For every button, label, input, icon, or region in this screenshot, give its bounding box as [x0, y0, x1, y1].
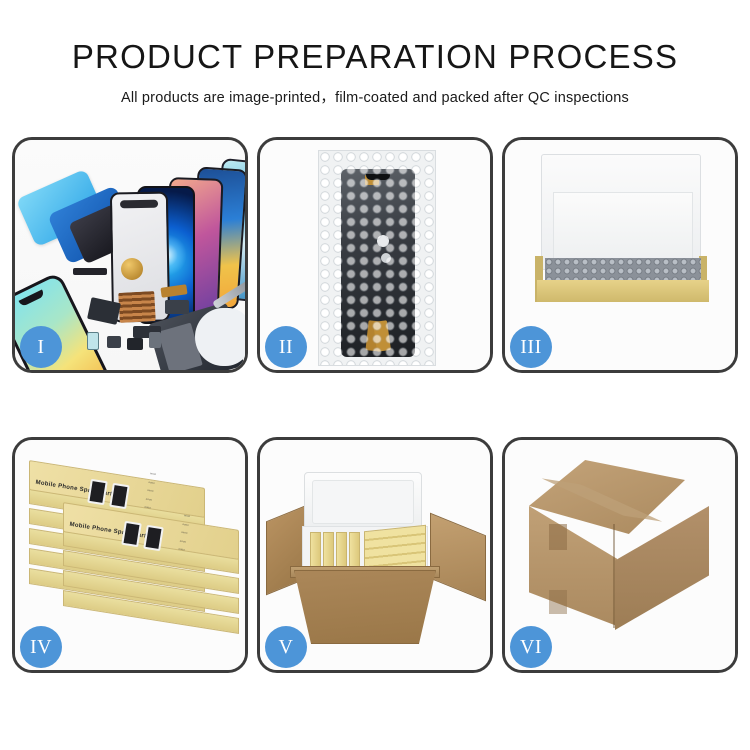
carton-tab-upper-icon: [549, 524, 567, 550]
foam-lid-inner-icon: [312, 480, 414, 524]
bubble-wrap-bag-icon: [318, 150, 436, 366]
process-step-4[interactable]: Mobile Phone Spare Parts ▫▫▫▫▫▫▫▫▫▫▫▫▫▫▫…: [12, 437, 248, 673]
foam-sheet-icon: [553, 192, 693, 262]
carton-flap-right-icon: [430, 513, 486, 602]
small-part-4-icon: [149, 332, 161, 348]
page-subtitle: All products are image-printed，film-coat…: [0, 86, 750, 107]
step-badge-5: V: [265, 626, 307, 668]
chip-array-icon: [118, 291, 156, 323]
process-step-3[interactable]: III: [502, 137, 738, 373]
process-step-5[interactable]: V: [257, 437, 493, 673]
step-badge-3: III: [510, 326, 552, 368]
speaker-module-icon: [121, 258, 143, 280]
carton-tab-lower-icon: [549, 590, 567, 614]
header: PRODUCT PREPARATION PROCESS All products…: [0, 0, 750, 107]
small-part-1-icon: [87, 332, 99, 350]
technician-hand-icon: [195, 308, 245, 366]
process-step-6[interactable]: VI: [502, 437, 738, 673]
carton-edge-seam-icon: [613, 524, 615, 628]
step-badge-1: I: [20, 326, 62, 368]
flex-cable-4-icon: [165, 300, 189, 314]
box-front-face-icon: [537, 280, 709, 302]
small-part-2-icon: [107, 336, 121, 348]
small-part-3-icon: [127, 338, 143, 350]
step-badge-4: IV: [20, 626, 62, 668]
connector-bar-icon: [73, 268, 107, 275]
process-step-2[interactable]: II: [257, 137, 493, 373]
page-title: PRODUCT PREPARATION PROCESS: [0, 40, 750, 75]
carton-body-icon: [294, 570, 436, 644]
step-badge-2: II: [265, 326, 307, 368]
process-step-1[interactable]: I: [12, 137, 248, 373]
step-badge-6: VI: [510, 626, 552, 668]
flex-cable-1-icon: [87, 297, 121, 325]
process-step-grid: I II: [12, 137, 738, 673]
bubble-texture-overlay: [319, 151, 435, 365]
product-preparation-process-page: PRODUCT PREPARATION PROCESS All products…: [0, 0, 750, 750]
